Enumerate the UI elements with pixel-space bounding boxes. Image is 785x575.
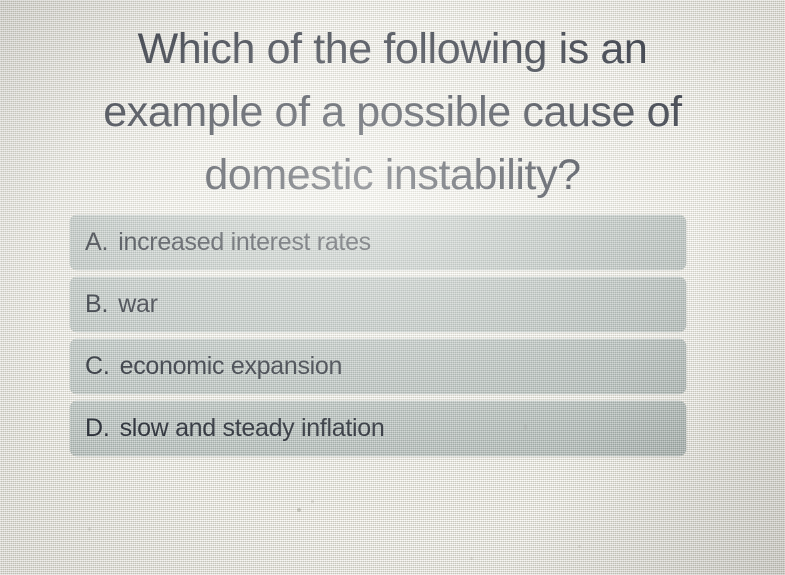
choice-letter-b: B. (85, 292, 108, 317)
answer-choice-list: A. increased interest rates B. war C. ec… (70, 215, 686, 456)
quiz-content: Which of the following is an example of … (0, 0, 785, 575)
quiz-screenshot: Which of the following is an example of … (0, 0, 785, 575)
question-line-2: example of a possible cause of (48, 81, 737, 144)
answer-choice-c[interactable]: C. economic expansion (70, 339, 686, 394)
choice-text-a: increased interest rates (118, 230, 371, 255)
choice-letter-d: D. (85, 416, 110, 441)
choice-letter-c: C. (85, 354, 110, 379)
question-line-3: domestic instability? (48, 144, 737, 207)
answer-choice-d[interactable]: D. slow and steady inflation (70, 401, 686, 456)
choice-letter-a: A. (85, 230, 108, 255)
answer-choice-a[interactable]: A. increased interest rates (70, 215, 686, 270)
question-line-1: Which of the following is an (48, 18, 737, 81)
answer-choice-b[interactable]: B. war (70, 277, 686, 332)
choice-text-c: economic expansion (120, 354, 343, 379)
choice-text-d: slow and steady inflation (120, 416, 385, 441)
choice-text-b: war (118, 292, 157, 317)
question-text: Which of the following is an example of … (48, 18, 737, 207)
